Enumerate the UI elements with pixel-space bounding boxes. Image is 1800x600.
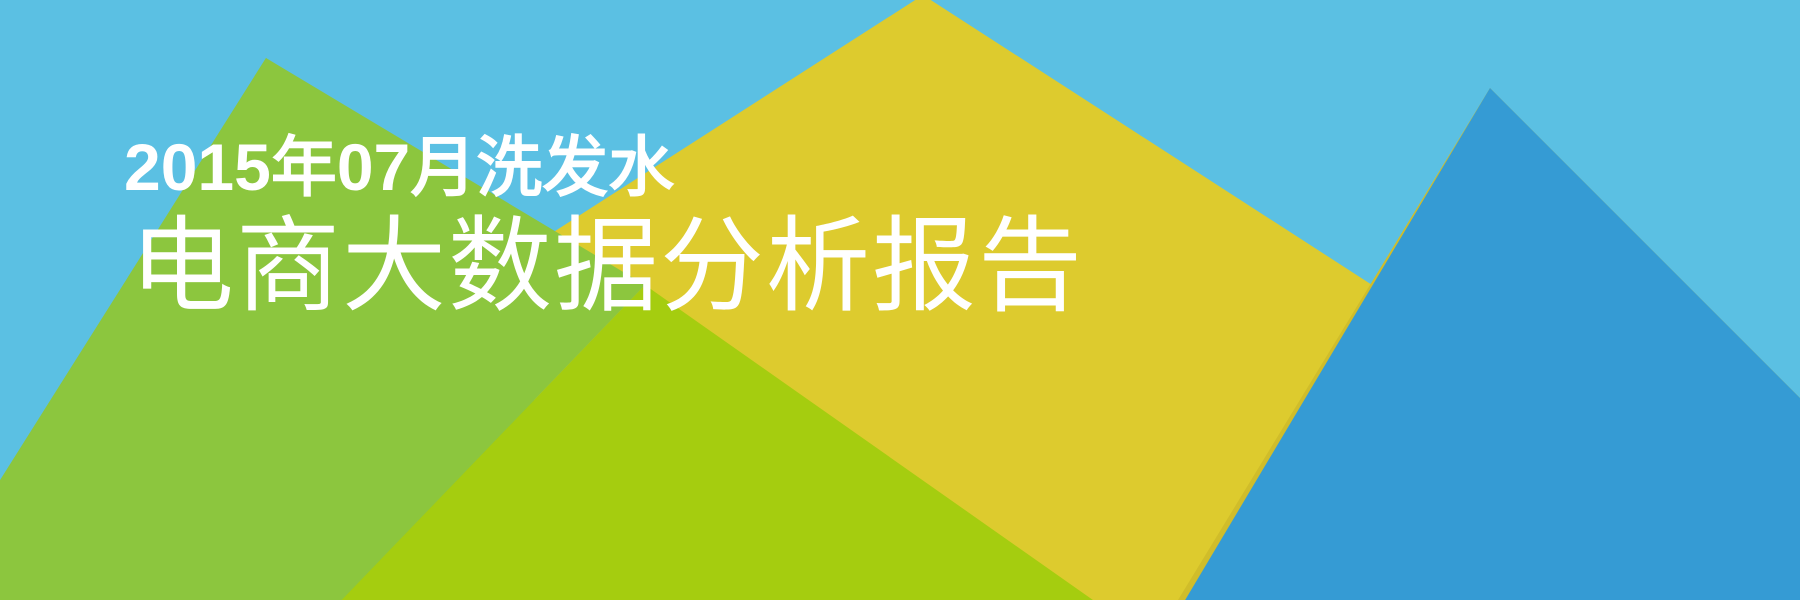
decorative-background [0,0,1800,600]
report-cover-slide: 2015年07月洗发水 电商大数据分析报告 [0,0,1800,600]
